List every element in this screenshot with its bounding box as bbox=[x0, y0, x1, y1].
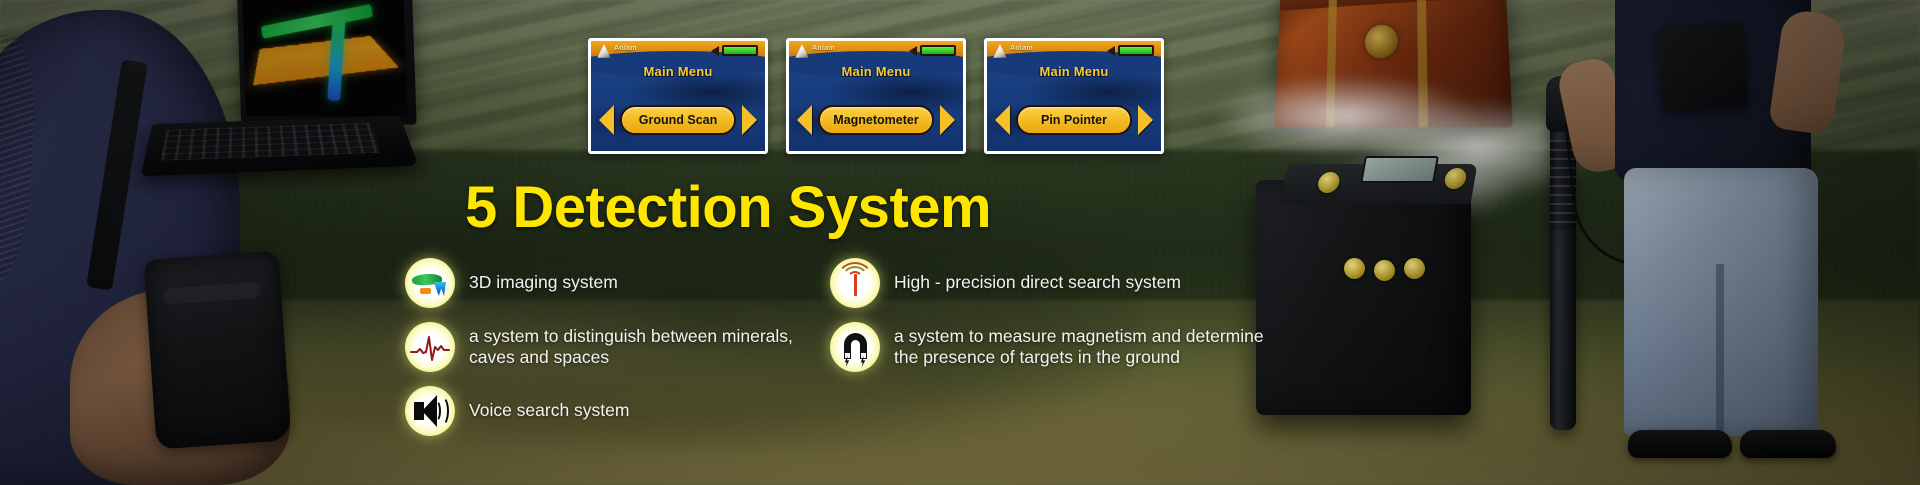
magnet-icon bbox=[830, 322, 880, 372]
panel-mode-selector: Ground Scan bbox=[591, 105, 765, 135]
signal-arc-outer bbox=[836, 262, 874, 300]
features-left-column: 3D imaging system a system to distinguis… bbox=[405, 258, 805, 450]
panel-mode-selector: Magnetometer bbox=[789, 105, 963, 135]
previous-mode-arrow-icon[interactable] bbox=[995, 105, 1010, 135]
next-mode-arrow-icon[interactable] bbox=[1138, 105, 1153, 135]
battery-icon bbox=[1118, 45, 1154, 56]
feature-item-voice-search: Voice search system bbox=[405, 386, 805, 436]
mode-button[interactable]: Magnetometer bbox=[818, 105, 934, 135]
feature-label: High - precision direct search system bbox=[894, 272, 1181, 293]
previous-mode-arrow-icon[interactable] bbox=[797, 105, 812, 135]
battery-icon bbox=[722, 45, 758, 56]
panel-title: Main Menu bbox=[987, 64, 1161, 79]
feature-label: a system to measure magnetism and determ… bbox=[894, 326, 1285, 369]
brand-name: Anlam bbox=[812, 45, 835, 52]
features-right-column: High - precision direct search system a … bbox=[830, 258, 1285, 386]
antenna-signal-icon bbox=[830, 258, 880, 308]
terrain-blue-shape bbox=[434, 282, 446, 296]
feature-item-high-precision-search: High - precision direct search system bbox=[830, 258, 1285, 308]
menu-panels-group: Anlam Main Menu Ground Scan Anlam Main M… bbox=[588, 38, 1164, 154]
ecg-waveform-icon bbox=[405, 322, 455, 372]
feature-item-3d-imaging: 3D imaging system bbox=[405, 258, 805, 308]
terrain-3d-icon bbox=[405, 258, 455, 308]
battery-icon bbox=[920, 45, 956, 56]
menu-panel-pin-pointer[interactable]: Anlam Main Menu Pin Pointer bbox=[984, 38, 1164, 154]
mode-button[interactable]: Pin Pointer bbox=[1016, 105, 1132, 135]
mode-button[interactable]: Ground Scan bbox=[620, 105, 736, 135]
previous-mode-arrow-icon[interactable] bbox=[599, 105, 614, 135]
speaker-icon bbox=[1107, 46, 1115, 56]
magnet-horseshoe bbox=[844, 333, 867, 354]
brand-name: Anlam bbox=[614, 45, 637, 52]
menu-panel-magnetometer[interactable]: Anlam Main Menu Magnetometer bbox=[786, 38, 966, 154]
panel-title: Main Menu bbox=[591, 64, 765, 79]
magnet-pole-left bbox=[844, 352, 851, 359]
feature-label: Voice search system bbox=[469, 400, 629, 421]
panel-mode-selector: Pin Pointer bbox=[987, 105, 1161, 135]
brand-name: Anlam bbox=[1010, 45, 1033, 52]
feature-item-mineral-discrimination: a system to distinguish between minerals… bbox=[405, 322, 805, 372]
speaker-icon bbox=[711, 46, 719, 56]
detector-promo-banner: Anlam Main Menu Ground Scan Anlam Main M… bbox=[0, 0, 1920, 485]
next-mode-arrow-icon[interactable] bbox=[742, 105, 757, 135]
menu-panel-ground-scan[interactable]: Anlam Main Menu Ground Scan bbox=[588, 38, 768, 154]
feature-item-magnetism-measurement: a system to measure magnetism and determ… bbox=[830, 322, 1285, 372]
speaker-icon bbox=[405, 386, 455, 436]
feature-label: a system to distinguish between minerals… bbox=[469, 326, 805, 369]
panel-title: Main Menu bbox=[789, 64, 963, 79]
page-title: 5 Detection System bbox=[465, 174, 991, 241]
feature-label: 3D imaging system bbox=[469, 272, 618, 293]
sound-wave-arc bbox=[439, 392, 455, 430]
next-mode-arrow-icon[interactable] bbox=[940, 105, 955, 135]
magnet-pole-right bbox=[860, 352, 867, 359]
terrain-orange-shape bbox=[420, 288, 431, 294]
speaker-icon bbox=[909, 46, 917, 56]
ecg-waveform-path bbox=[410, 332, 450, 362]
